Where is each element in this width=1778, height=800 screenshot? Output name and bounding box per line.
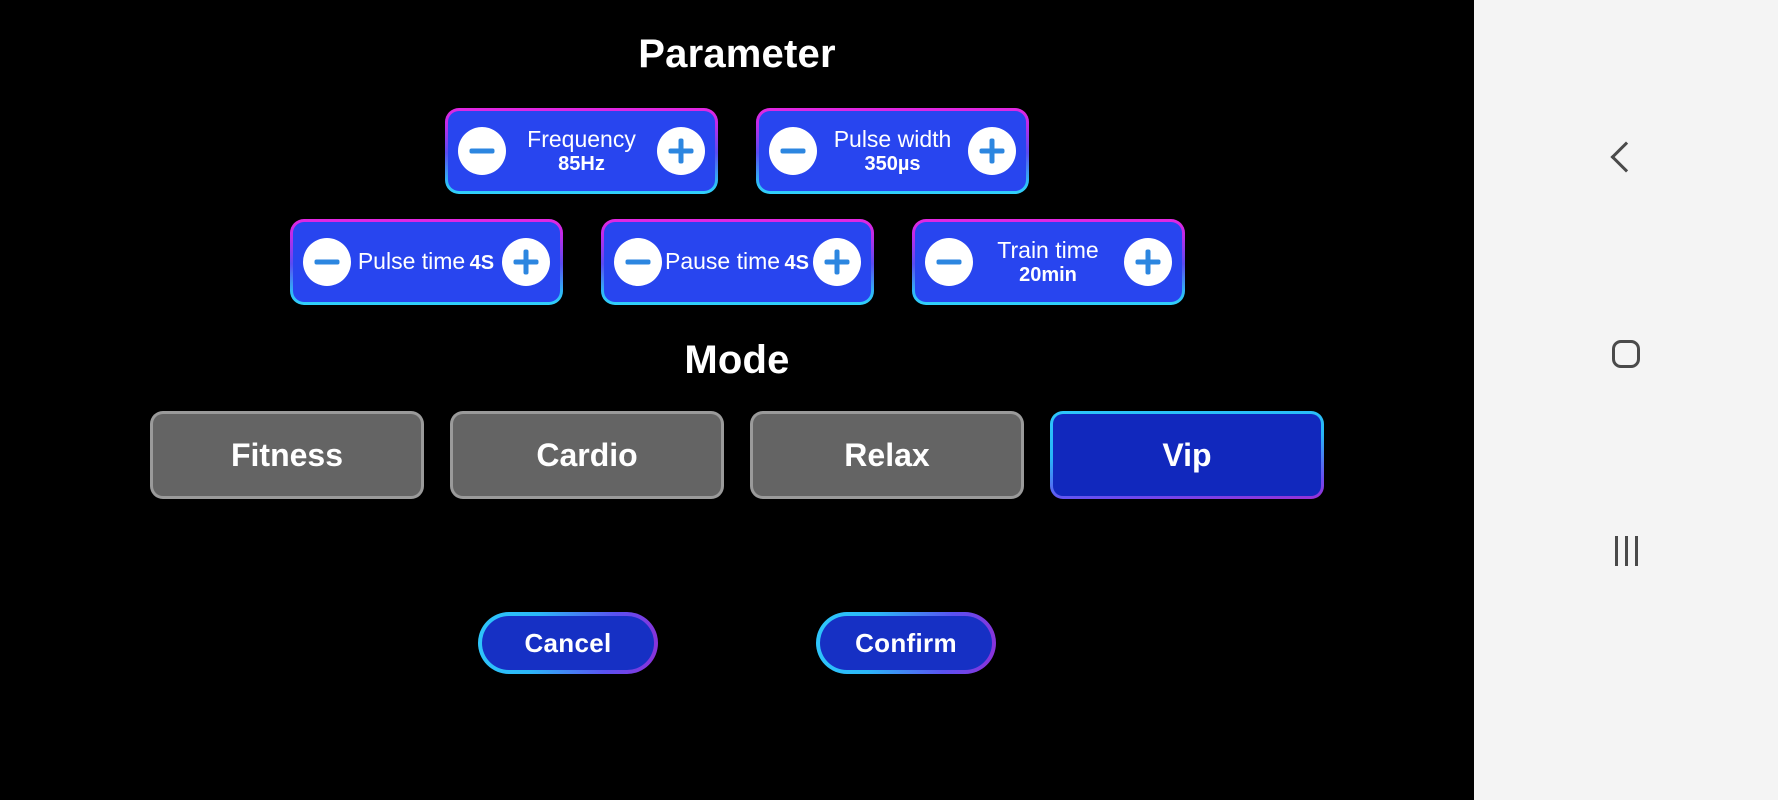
mode-button-group: Fitness Cardio Relax Vip	[0, 411, 1474, 499]
plus-circle-icon[interactable]	[1124, 238, 1172, 286]
stepper-pause-time[interactable]: Pause time 4S	[601, 219, 874, 305]
stepper-frequency-inner: Frequency 85Hz	[448, 111, 715, 191]
plus-circle-icon[interactable]	[657, 127, 705, 175]
parameter-row-1: Frequency 85Hz Pulse width 350µs	[0, 108, 1474, 194]
stepper-frequency-value: 85Hz	[558, 153, 605, 175]
minus-circle-icon[interactable]	[925, 238, 973, 286]
nav-back-button[interactable]	[1474, 130, 1778, 184]
stepper-pause-time-inner: Pause time 4S	[604, 222, 871, 302]
plus-circle-icon[interactable]	[502, 238, 550, 286]
parameter-row-2: Pulse time 4S Pause time 4S	[0, 219, 1474, 305]
stepper-train-time-inner: Train time 20min	[915, 222, 1182, 302]
stepper-frequency[interactable]: Frequency 85Hz	[445, 108, 718, 194]
stepper-pulse-time-name: Pulse time	[358, 248, 465, 274]
minus-circle-icon[interactable]	[614, 238, 662, 286]
stepper-train-time-value: 20min	[1019, 264, 1077, 286]
page-title-mode: Mode	[0, 338, 1474, 383]
stepper-pulse-width-inner: Pulse width 350µs	[759, 111, 1026, 191]
android-navigation-bar	[1474, 0, 1778, 800]
app-content: Parameter Frequency 85Hz Pulse width	[0, 0, 1474, 800]
mode-button-vip[interactable]: Vip	[1050, 411, 1324, 499]
nav-recents-button[interactable]	[1474, 524, 1778, 578]
stepper-pulse-width-name: Pulse width	[834, 126, 952, 152]
mode-button-cardio-label: Cardio	[453, 414, 721, 496]
stepper-pulse-time-inner: Pulse time 4S	[293, 222, 560, 302]
back-chevron-icon	[1610, 141, 1641, 172]
minus-circle-icon[interactable]	[303, 238, 351, 286]
stepper-frequency-labels: Frequency 85Hz	[506, 127, 657, 175]
stepper-train-time-name: Train time	[997, 237, 1098, 263]
screen-root: Parameter Frequency 85Hz Pulse width	[0, 0, 1778, 800]
minus-circle-icon[interactable]	[458, 127, 506, 175]
page-title-parameter: Parameter	[0, 32, 1474, 77]
stepper-pause-time-name: Pause time	[665, 248, 780, 274]
confirm-button-label: Confirm	[820, 616, 992, 670]
mode-button-relax[interactable]: Relax	[750, 411, 1024, 499]
confirm-button[interactable]: Confirm	[816, 612, 996, 674]
stepper-frequency-name: Frequency	[527, 126, 636, 152]
mode-button-vip-label: Vip	[1053, 414, 1321, 496]
stepper-pulse-width-labels: Pulse width 350µs	[817, 127, 968, 175]
stepper-pulse-width-value: 350µs	[864, 153, 920, 175]
nav-home-button[interactable]	[1474, 327, 1778, 381]
footer-button-group: Cancel Confirm	[0, 612, 1474, 674]
home-square-icon	[1612, 340, 1640, 368]
stepper-pause-time-labels: Pause time 4S	[662, 249, 813, 275]
stepper-pulse-width[interactable]: Pulse width 350µs	[756, 108, 1029, 194]
stepper-pause-time-value: 4S	[785, 252, 809, 274]
stepper-pulse-time[interactable]: Pulse time 4S	[290, 219, 563, 305]
stepper-train-time[interactable]: Train time 20min	[912, 219, 1185, 305]
plus-circle-icon[interactable]	[813, 238, 861, 286]
minus-circle-icon[interactable]	[769, 127, 817, 175]
mode-button-cardio[interactable]: Cardio	[450, 411, 724, 499]
stepper-pulse-time-labels: Pulse time 4S	[351, 249, 502, 275]
stepper-pulse-time-value: 4S	[470, 252, 494, 274]
cancel-button[interactable]: Cancel	[478, 612, 658, 674]
mode-button-fitness[interactable]: Fitness	[150, 411, 424, 499]
recents-bars-icon	[1615, 536, 1638, 566]
cancel-button-label: Cancel	[482, 616, 654, 670]
mode-button-relax-label: Relax	[753, 414, 1021, 496]
mode-button-fitness-label: Fitness	[153, 414, 421, 496]
plus-circle-icon[interactable]	[968, 127, 1016, 175]
stepper-train-time-labels: Train time 20min	[973, 238, 1124, 286]
